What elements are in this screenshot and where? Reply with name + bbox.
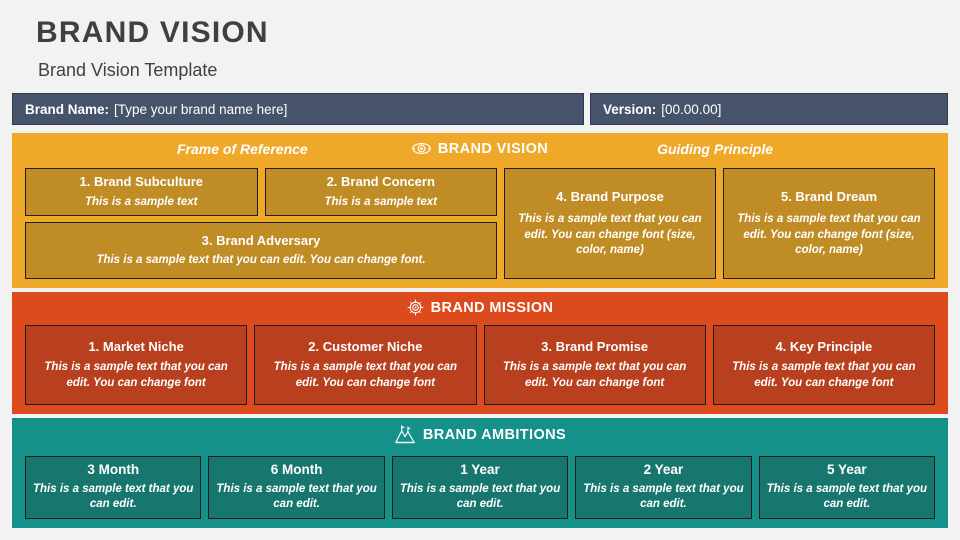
- card-text[interactable]: This is a sample text that you can edit.: [215, 482, 377, 512]
- card-text[interactable]: This is a sample text that you can edit.: [32, 482, 194, 512]
- card-brand-promise[interactable]: 3. Brand Promise This is a sample text t…: [484, 325, 706, 405]
- card-text[interactable]: This is a sample text that you can edit.…: [261, 360, 469, 390]
- page-subtitle: Brand Vision Template: [38, 60, 217, 81]
- card-text[interactable]: This is a sample text that you can edit.…: [720, 360, 928, 390]
- card-text[interactable]: This is a sample text that you can edit.…: [96, 253, 425, 268]
- card-text[interactable]: This is a sample text that you can edit.: [399, 482, 561, 512]
- brand-ambitions-heading: BRAND AMBITIONS: [394, 425, 566, 445]
- card-text[interactable]: This is a sample text that you can edit.…: [32, 360, 240, 390]
- card-title: 3 Month: [87, 462, 139, 479]
- card-title: 5. Brand Dream: [781, 189, 877, 205]
- target-icon: [407, 299, 424, 316]
- brand-vision-header: Frame of Reference BRAND VISION Guiding …: [12, 133, 948, 164]
- brand-mission-heading-label: BRAND MISSION: [431, 300, 554, 316]
- brand-vision-section: Frame of Reference BRAND VISION Guiding …: [12, 133, 948, 288]
- card-title: 2. Brand Concern: [327, 174, 435, 190]
- brand-ambitions-section: BRAND AMBITIONS 3 Month This is a sample…: [12, 418, 948, 528]
- eye-icon: [412, 142, 431, 155]
- brand-vision-heading: BRAND VISION: [412, 141, 548, 157]
- card-text[interactable]: This is a sample text: [325, 195, 438, 210]
- card-market-niche[interactable]: 1. Market Niche This is a sample text th…: [25, 325, 247, 405]
- version-field[interactable]: Version: [00.00.00]: [590, 93, 948, 125]
- page-title: BRAND VISION: [36, 16, 269, 50]
- card-title: 5 Year: [827, 462, 867, 479]
- brand-vision-heading-label: BRAND VISION: [438, 141, 548, 157]
- brand-vision-cards: 1. Brand Subculture This is a sample tex…: [25, 168, 935, 279]
- card-customer-niche[interactable]: 2. Customer Niche This is a sample text …: [254, 325, 476, 405]
- card-title: 4. Brand Purpose: [556, 189, 664, 205]
- card-5-year[interactable]: 5 Year This is a sample text that you ca…: [759, 456, 935, 519]
- card-1-year[interactable]: 1 Year This is a sample text that you ca…: [392, 456, 568, 519]
- card-3-month[interactable]: 3 Month This is a sample text that you c…: [25, 456, 201, 519]
- mountain-flags-icon: [394, 425, 416, 445]
- brand-mission-cards: 1. Market Niche This is a sample text th…: [25, 325, 935, 405]
- card-text[interactable]: This is a sample text that you can edit.…: [511, 212, 709, 258]
- brand-ambitions-header: BRAND AMBITIONS: [12, 418, 948, 451]
- brand-vision-slide: BRAND VISION Brand Vision Template Brand…: [0, 0, 960, 540]
- card-text[interactable]: This is a sample text that you can edit.…: [491, 360, 699, 390]
- card-brand-subculture[interactable]: 1. Brand Subculture This is a sample tex…: [25, 168, 258, 216]
- brand-mission-heading: BRAND MISSION: [407, 299, 554, 316]
- card-brand-dream[interactable]: 5. Brand Dream This is a sample text tha…: [723, 168, 935, 279]
- card-title: 1. Market Niche: [88, 339, 183, 355]
- version-value[interactable]: [00.00.00]: [656, 102, 721, 117]
- vision-left-group: 1. Brand Subculture This is a sample tex…: [25, 168, 497, 279]
- card-key-principle[interactable]: 4. Key Principle This is a sample text t…: [713, 325, 935, 405]
- card-title: 3. Brand Adversary: [202, 233, 321, 249]
- card-title: 4. Key Principle: [775, 339, 872, 355]
- brand-mission-header: BRAND MISSION: [12, 292, 948, 323]
- vision-top-row: 1. Brand Subculture This is a sample tex…: [25, 168, 497, 216]
- card-title: 6 Month: [271, 462, 323, 479]
- version-label: Version:: [591, 102, 656, 117]
- card-brand-concern[interactable]: 2. Brand Concern This is a sample text: [265, 168, 498, 216]
- card-title: 2. Customer Niche: [308, 339, 422, 355]
- brand-ambitions-heading-label: BRAND AMBITIONS: [423, 427, 566, 443]
- card-brand-purpose[interactable]: 4. Brand Purpose This is a sample text t…: [504, 168, 716, 279]
- frame-of-reference-note: Frame of Reference: [177, 141, 308, 157]
- card-title: 2 Year: [644, 462, 684, 479]
- brand-name-field[interactable]: Brand Name: [Type your brand name here]: [12, 93, 584, 125]
- card-text[interactable]: This is a sample text that you can edit.…: [730, 212, 928, 258]
- card-text[interactable]: This is a sample text that you can edit.: [582, 482, 744, 512]
- card-title: 1. Brand Subculture: [79, 174, 203, 190]
- card-2-year[interactable]: 2 Year This is a sample text that you ca…: [575, 456, 751, 519]
- card-title: 3. Brand Promise: [541, 339, 648, 355]
- guiding-principle-note: Guiding Principle: [657, 141, 773, 157]
- brand-ambitions-cards: 3 Month This is a sample text that you c…: [25, 456, 935, 519]
- card-brand-adversary[interactable]: 3. Brand Adversary This is a sample text…: [25, 222, 497, 279]
- brand-name-value[interactable]: [Type your brand name here]: [109, 102, 287, 117]
- card-text[interactable]: This is a sample text: [85, 195, 198, 210]
- card-text[interactable]: This is a sample text that you can edit.: [766, 482, 928, 512]
- vision-right-group: 4. Brand Purpose This is a sample text t…: [504, 168, 935, 279]
- card-title: 1 Year: [460, 462, 500, 479]
- brand-mission-section: BRAND MISSION 1. Market Niche This is a …: [12, 292, 948, 414]
- brand-name-label: Brand Name:: [13, 102, 109, 117]
- card-6-month[interactable]: 6 Month This is a sample text that you c…: [208, 456, 384, 519]
